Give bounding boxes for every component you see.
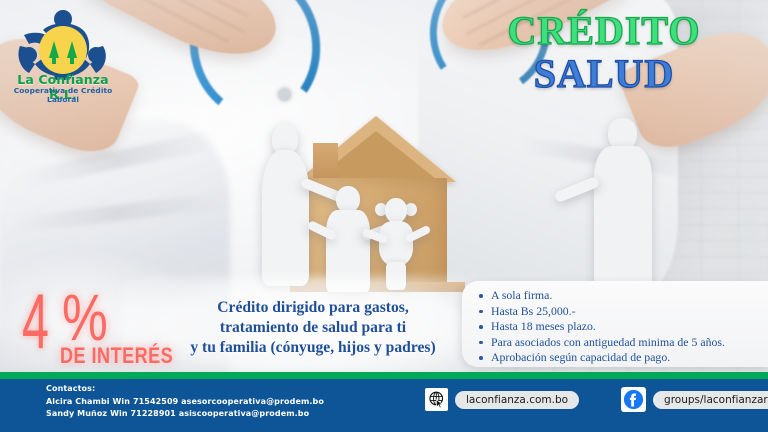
globe-cursor-icon[interactable] xyxy=(425,388,448,411)
benefits-list: A sola firma. Hasta Bs 25,000.- Hasta 18… xyxy=(478,288,760,366)
list-item: Aprobación según capacidad de pago. xyxy=(478,350,760,366)
title-line-credito: CRÉDITO xyxy=(454,8,754,54)
offer-description-line-1: Crédito dirigido para gastos, xyxy=(150,298,476,318)
globe-cursor-icon-glyph xyxy=(428,391,446,409)
contacts-block: Contactos: Alcira Chambi Win 71542509 as… xyxy=(46,383,324,421)
list-item: Para asociados con antiguedad minima de … xyxy=(478,335,760,351)
green-divider-bar xyxy=(0,372,768,379)
footer-links: laconfianza.com.bo groups/laconfianzarl xyxy=(425,387,768,412)
footer-bar: Contactos: Alcira Chambi Win 71542509 as… xyxy=(0,379,768,432)
brand-tagline: Cooperativa de Crédito Laboral xyxy=(4,86,122,104)
offer-description-line-3: y tu familia (cónyuge, hijos y padres) xyxy=(150,338,476,358)
website-link[interactable]: laconfianza.com.bo xyxy=(455,391,579,409)
benefits-panel: A sola firma. Hasta Bs 25,000.- Hasta 18… xyxy=(462,281,768,367)
offer-description-line-2: tratamiento de salud para ti xyxy=(150,318,476,338)
photo-paper-father-body xyxy=(594,146,652,288)
facebook-icon-glyph xyxy=(623,389,644,410)
photo-paper-mother-body xyxy=(262,150,309,286)
facebook-link[interactable]: groups/laconfianzarl xyxy=(653,391,768,409)
photo-paper-girl-head xyxy=(385,198,407,223)
photo-paper-girl-body xyxy=(379,221,413,267)
poster-title: CRÉDITO SALUD xyxy=(454,8,754,96)
contact-line-1: Alcira Chambi Win 71542509 asesorcoopera… xyxy=(46,396,324,409)
photo-paper-boy-head xyxy=(336,186,360,213)
interest-rate-number: 4 xyxy=(22,282,49,360)
title-line-salud: SALUD xyxy=(454,52,754,96)
list-item: Hasta Bs 25,000.- xyxy=(478,304,760,320)
offer-description: Crédito dirigido para gastos, tratamient… xyxy=(150,298,476,358)
photo-stethoscope-chestpiece xyxy=(278,88,291,101)
cooperative-people-trees-logo-icon xyxy=(8,6,120,80)
list-item: Hasta 18 meses plazo. xyxy=(478,319,760,335)
contacts-heading: Contactos: xyxy=(46,383,324,396)
contact-line-2: Sandy Muñoz Win 71228901 asiscooperativa… xyxy=(46,408,324,421)
facebook-icon[interactable] xyxy=(621,387,646,412)
promotional-poster: La Confianza R.L. Cooperativa de Crédito… xyxy=(0,0,768,432)
list-item: A sola firma. xyxy=(478,288,760,304)
interest-rate-percent-symbol: % xyxy=(62,284,108,350)
